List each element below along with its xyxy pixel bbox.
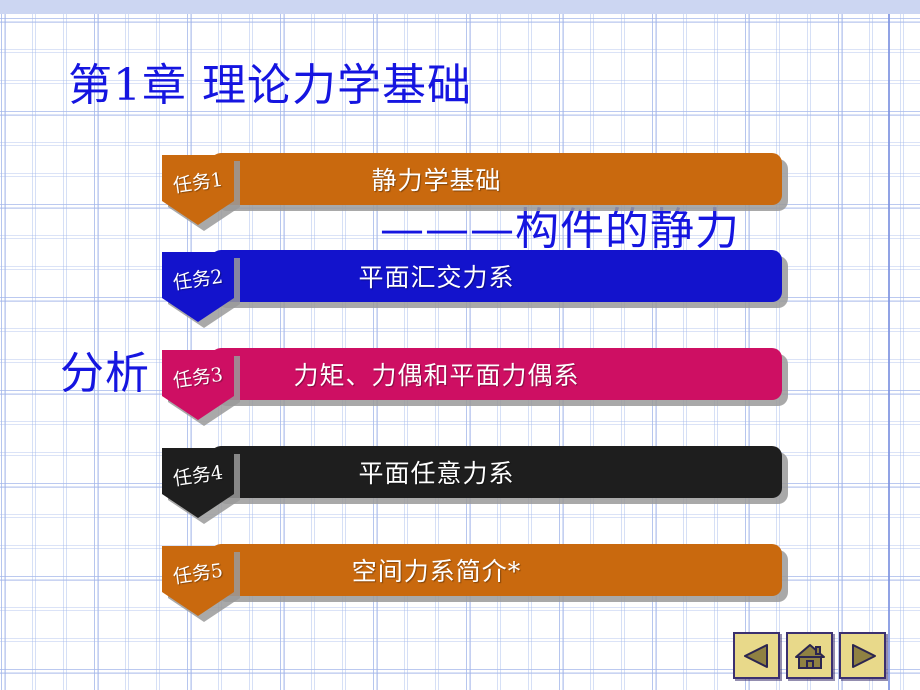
triangle-left-icon bbox=[742, 642, 772, 670]
task-bar-label: 空间力系简介* bbox=[211, 544, 782, 596]
task-bar[interactable]: 静力学基础 bbox=[211, 153, 782, 205]
task-bar-label: 平面任意力系 bbox=[211, 446, 782, 498]
task-row[interactable]: 空间力系简介* 任务5 bbox=[120, 532, 788, 610]
task-bar-label: 平面汇交力系 bbox=[211, 250, 782, 302]
nav-forward-button[interactable] bbox=[839, 632, 886, 679]
task-bar-label: 力矩、力偶和平面力偶系 bbox=[211, 348, 782, 400]
title-line-1: 第1章 理论力学基础 bbox=[0, 62, 880, 110]
task-row[interactable]: 力矩、力偶和平面力偶系 任务3 bbox=[120, 336, 788, 414]
task-badge[interactable] bbox=[156, 532, 240, 616]
task-bar[interactable]: 平面任意力系 bbox=[211, 446, 782, 498]
task-badge[interactable] bbox=[156, 141, 240, 225]
task-badge[interactable] bbox=[156, 336, 240, 420]
task-badge[interactable] bbox=[156, 434, 240, 518]
task-bar[interactable]: 空间力系简介* bbox=[211, 544, 782, 596]
nav-home-button[interactable] bbox=[786, 632, 833, 679]
task-bar[interactable]: 平面汇交力系 bbox=[211, 250, 782, 302]
task-badge[interactable] bbox=[156, 238, 240, 322]
task-row[interactable]: 平面任意力系 任务4 bbox=[120, 434, 788, 512]
task-row[interactable]: 平面汇交力系 任务2 bbox=[120, 238, 788, 316]
nav-back-button[interactable] bbox=[733, 632, 780, 679]
task-row[interactable]: 静力学基础 任务1 bbox=[120, 141, 788, 219]
task-bar[interactable]: 力矩、力偶和平面力偶系 bbox=[211, 348, 782, 400]
navigation-bar bbox=[733, 632, 886, 679]
home-icon bbox=[794, 642, 826, 670]
triangle-right-icon bbox=[848, 642, 878, 670]
vertical-guide-line bbox=[888, 0, 890, 690]
task-bar-label: 静力学基础 bbox=[211, 153, 782, 205]
slide-canvas: 第1章 理论力学基础 ———构件的静力 分析 静力学基础 任务1 平面汇交力系 … bbox=[0, 0, 920, 690]
